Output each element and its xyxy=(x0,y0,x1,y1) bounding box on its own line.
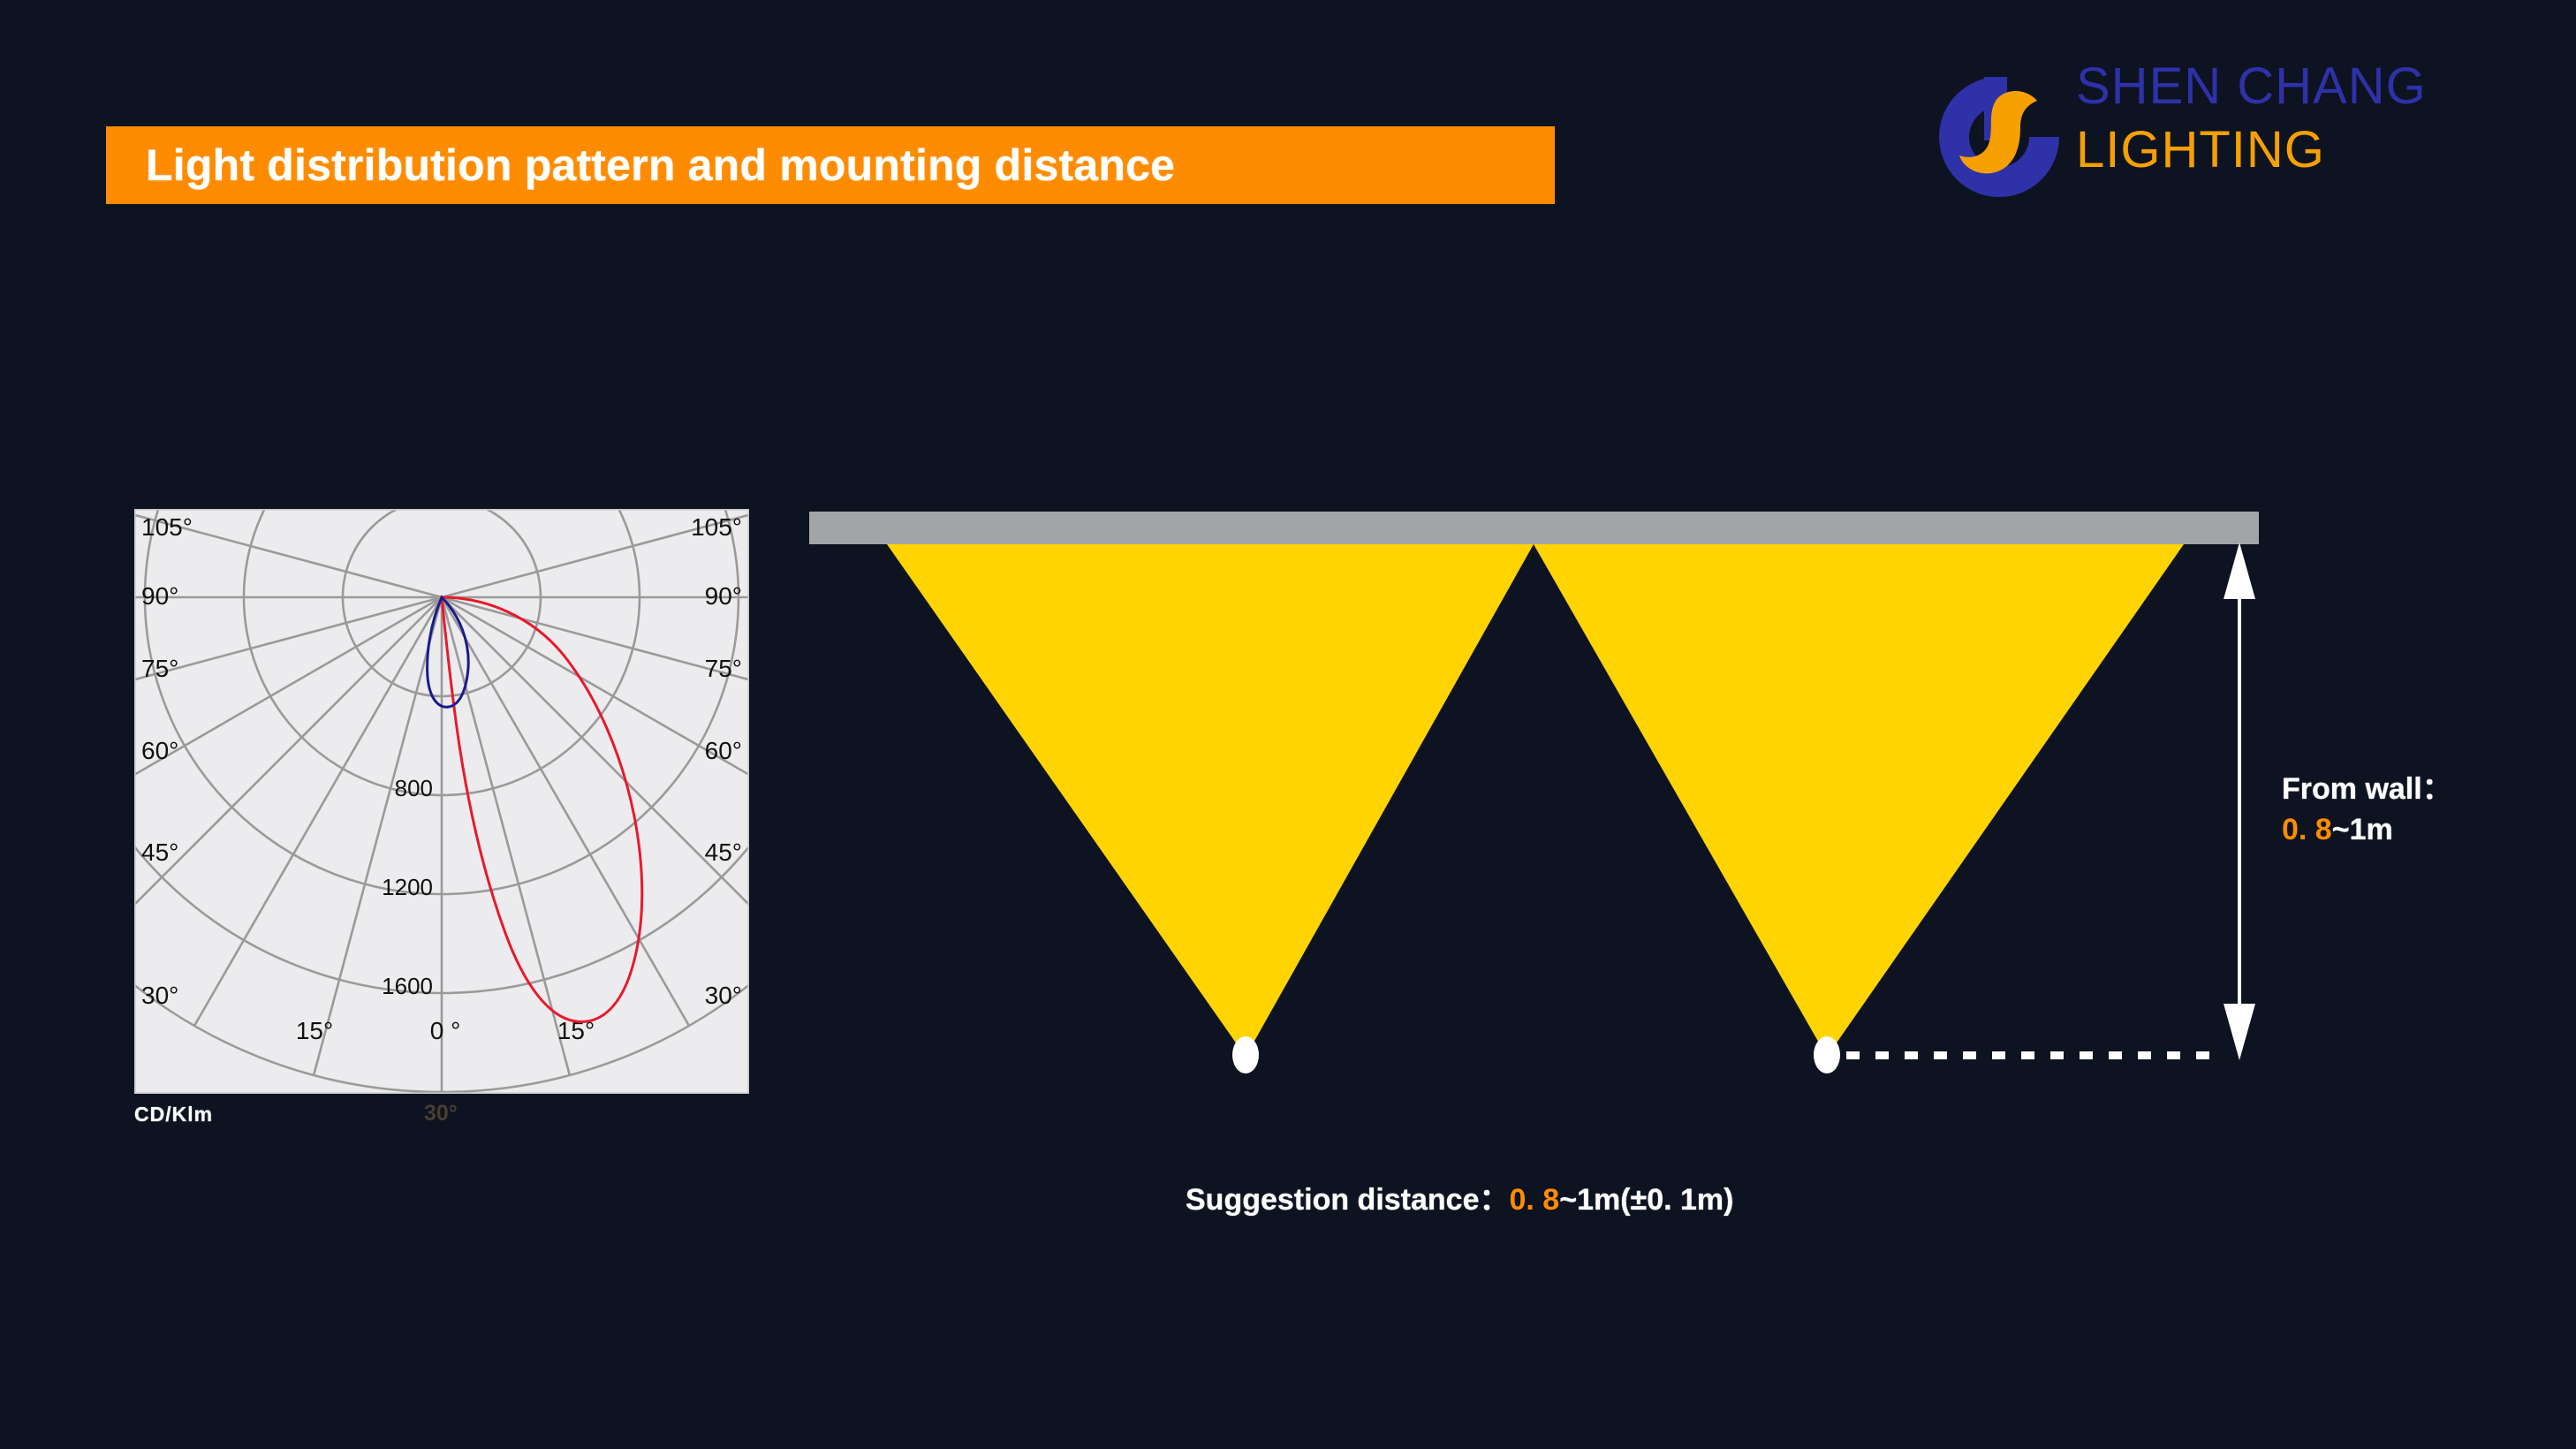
light-beam-left xyxy=(887,544,1534,1057)
logo-line-1: SHEN CHANG xyxy=(2076,55,2427,118)
from-wall-annotation: From wall： 0. 8~1m xyxy=(2282,769,2452,850)
suggestion-distance-annotation: Suggestion distance：0. 8~1m(±0. 1m) xyxy=(1186,1175,1733,1218)
suggestion-label: Suggestion distance： xyxy=(1186,1183,1510,1217)
page-title: Light distribution pattern and mounting … xyxy=(106,140,1175,191)
suggestion-value-orange: 0. 8 xyxy=(1510,1183,1560,1217)
angle-label-bottom-left-15: 15° xyxy=(296,1017,333,1044)
angle-label-left-105: 105° xyxy=(141,513,193,541)
title-banner: Light distribution pattern and mounting … xyxy=(106,126,1555,204)
lamp-fixture-right xyxy=(1814,1036,1840,1073)
polar-curve-c0-c180 xyxy=(442,597,642,1021)
polar-light-distribution-chart: 800 1200 1600 105° 90° 75° 60° 45° 30° 1… xyxy=(134,509,749,1094)
angle-label-right-105: 105° xyxy=(691,513,742,541)
polar-radial-labels: 800 1200 1600 xyxy=(382,775,433,999)
polar-unit-label: CD/Klm xyxy=(134,1103,213,1127)
suggestion-value-white: ~1m(±0. 1m) xyxy=(1559,1183,1733,1217)
dimension-arrow-icon xyxy=(2213,541,2266,1062)
light-beams-svg xyxy=(795,539,2297,1087)
angle-label-right-75: 75° xyxy=(705,655,742,682)
angle-label-right-45: 45° xyxy=(705,838,742,866)
light-beam-right xyxy=(1534,544,2184,1057)
from-wall-value-white: ~1m xyxy=(2332,813,2393,846)
radial-label-1600: 1600 xyxy=(382,973,433,999)
radial-label-1200: 1200 xyxy=(382,874,433,900)
brand-logo: SHEN CHANG LIGHTING xyxy=(1933,55,2463,214)
angle-label-right-60: 60° xyxy=(705,737,742,764)
angle-label-left-30: 30° xyxy=(141,982,178,1009)
logo-line-2: LIGHTING xyxy=(2076,118,2427,182)
logo-mark-icon xyxy=(1933,71,2065,203)
angle-label-right-30: 30° xyxy=(705,982,742,1009)
angle-label-left-45: 45° xyxy=(141,838,178,866)
radial-label-800: 800 xyxy=(395,775,433,801)
from-wall-label: From wall： xyxy=(2282,772,2452,806)
logo-wordmark: SHEN CHANG LIGHTING xyxy=(2076,55,2427,182)
angle-label-left-60: 60° xyxy=(141,737,178,764)
polar-angle-labels-left: 105° 90° 75° 60° 45° 30° xyxy=(141,513,193,1009)
lamp-fixture-left xyxy=(1232,1036,1259,1073)
angle-label-right-90: 90° xyxy=(705,582,742,610)
ceiling-wall-bar xyxy=(809,512,2259,544)
angle-label-left-90: 90° xyxy=(141,582,178,610)
floor-reference-dashed-line xyxy=(1846,1051,2253,1059)
slide-canvas: Light distribution pattern and mounting … xyxy=(0,0,2576,1449)
polar-chart-svg: 800 1200 1600 105° 90° 75° 60° 45° 30° 1… xyxy=(134,509,749,1094)
polar-angle-labels-right: 105° 90° 75° 60° 45° 30° xyxy=(691,513,742,1009)
from-wall-value-orange: 0. 8 xyxy=(2282,813,2332,846)
polar-angle-labels-bottom: 15° 0 ° 15° xyxy=(296,1017,595,1044)
angle-label-bottom-0: 0 ° xyxy=(430,1017,461,1044)
polar-ghost-angle-label: 30° xyxy=(424,1101,458,1127)
angle-label-left-75: 75° xyxy=(141,655,178,682)
